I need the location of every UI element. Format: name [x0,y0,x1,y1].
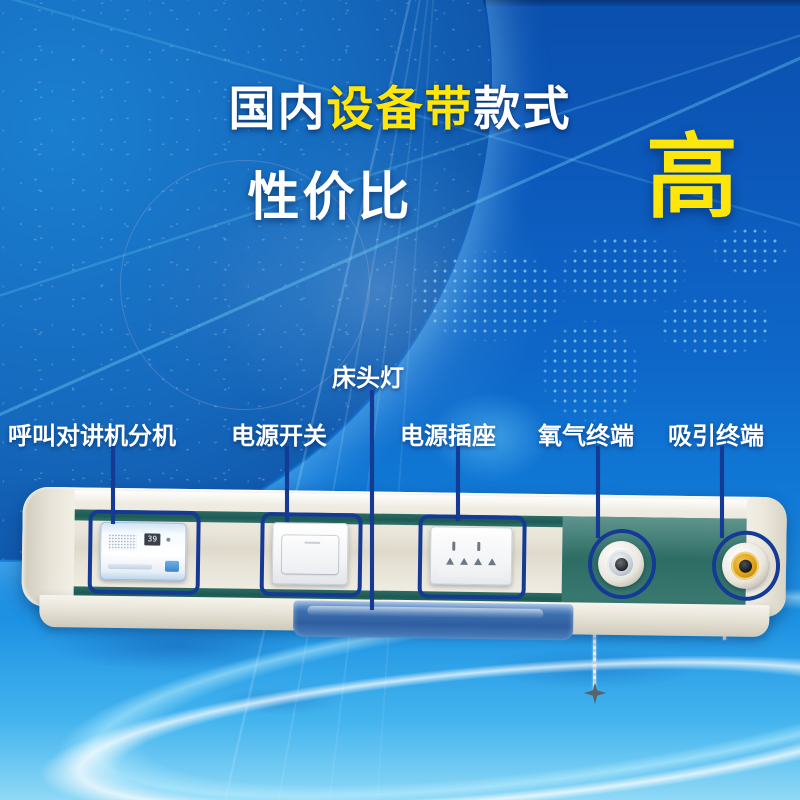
callout-label-bed-lamp: 床头灯 [332,358,404,393]
leader-line-intercom [111,446,115,524]
callout-label-power-socket: 电源插座 [400,416,496,451]
callout-layer: 呼叫对讲机分机 电源开关 床头灯 电源插座 氧气终端 吸引终端 [0,0,800,800]
banner-canvas: 国内设备带款式 性价比 高 呼叫对讲机分机 电源开关 床头灯 电源插座 氧气终端… [0,0,800,800]
callout-label-suction: 吸引终端 [668,416,764,451]
callout-label-intercom: 呼叫对讲机分机 [8,416,176,451]
leader-line-oxygen [596,446,600,538]
leader-line-bed-lamp [370,390,374,610]
leader-line-power-switch [285,446,289,522]
callout-label-power-switch: 电源开关 [231,416,327,451]
callout-label-oxygen: 氧气终端 [538,416,634,451]
leader-line-suction [720,446,724,538]
leader-line-power-socket [456,446,460,521]
